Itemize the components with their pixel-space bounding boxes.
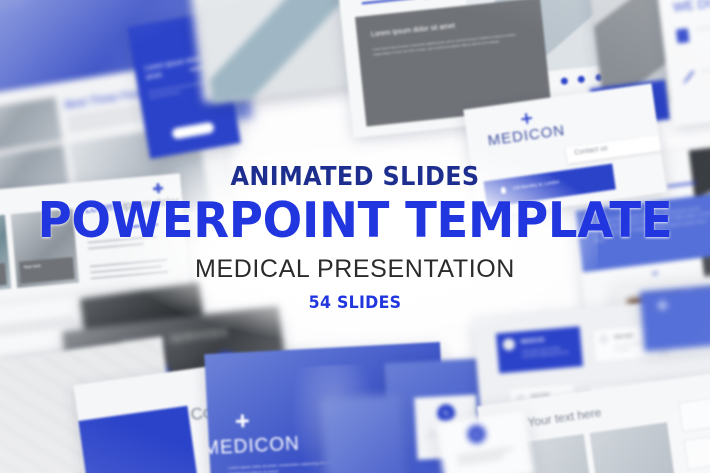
thumb-blue-panel — [78, 406, 201, 473]
thumb-body: Lorem ipsum dolor sit amet consectetur a… — [0, 0, 107, 13]
thumb-contact-label: Contact us — [574, 145, 608, 157]
thumb-card-label: Your text — [613, 333, 633, 340]
promo-text-block: ANIMATED SLIDES POWERPOINT TEMPLATE MEDI… — [0, 162, 710, 313]
thumb-body: Lorem ipsum dolor sit amet, consectetur … — [521, 345, 574, 360]
pager-dot — [578, 75, 586, 83]
thumb-side-card — [683, 430, 710, 470]
promo-eyebrow: ANIMATED SLIDES — [28, 162, 681, 192]
thumb-medicon-card: MEDICON Lorem ipsum dolor sit amet, cons… — [496, 326, 583, 373]
thumb-heading: Your text here — [527, 405, 603, 429]
thumb-brand: MEDICON — [487, 122, 566, 150]
thumbnail-gloved-hands-photo — [200, 0, 362, 103]
thumb-brand: MEDICON — [204, 433, 300, 460]
thumb-box-heading: Lorem ipsum dolor sit amet — [371, 23, 456, 39]
avatar-icon — [598, 334, 609, 345]
promo-subtitle: MEDICAL PRESENTATION — [0, 255, 710, 284]
pill-bottle-icon — [676, 28, 690, 43]
thumb-contact-label-chip: Contact us — [566, 135, 663, 164]
avatar-icon: ◉ — [466, 424, 487, 445]
medical-cross-icon — [520, 112, 532, 124]
thumbnail-misc-shape — [321, 393, 407, 473]
thumb-line2: Slide — [420, 0, 450, 2]
avatar-icon — [502, 338, 515, 351]
thumb-photo — [590, 422, 679, 473]
promo-slide-count: 54 SLIDES — [25, 293, 685, 313]
thumb-read-more-button — [171, 122, 214, 140]
thumb-side-card — [678, 392, 710, 432]
thumb-brand: MEDICON — [520, 337, 544, 345]
promo-title: POWERPOINT TEMPLATE — [18, 196, 693, 246]
thumb-item-body: Lorem ipsum dolor sit amet adipiscing no… — [701, 59, 710, 74]
promo-canvas: DEMIC Lorem ipsum dolor sit amet consect… — [0, 0, 710, 473]
syringe-icon — [681, 70, 695, 84]
thumb-item-body: Lorem ipsum dolor sit amet adipiscing no… — [696, 17, 710, 32]
pager-dot — [561, 77, 569, 85]
medical-cross-icon — [235, 414, 249, 428]
thumb-line2: WE DO — [672, 0, 710, 15]
